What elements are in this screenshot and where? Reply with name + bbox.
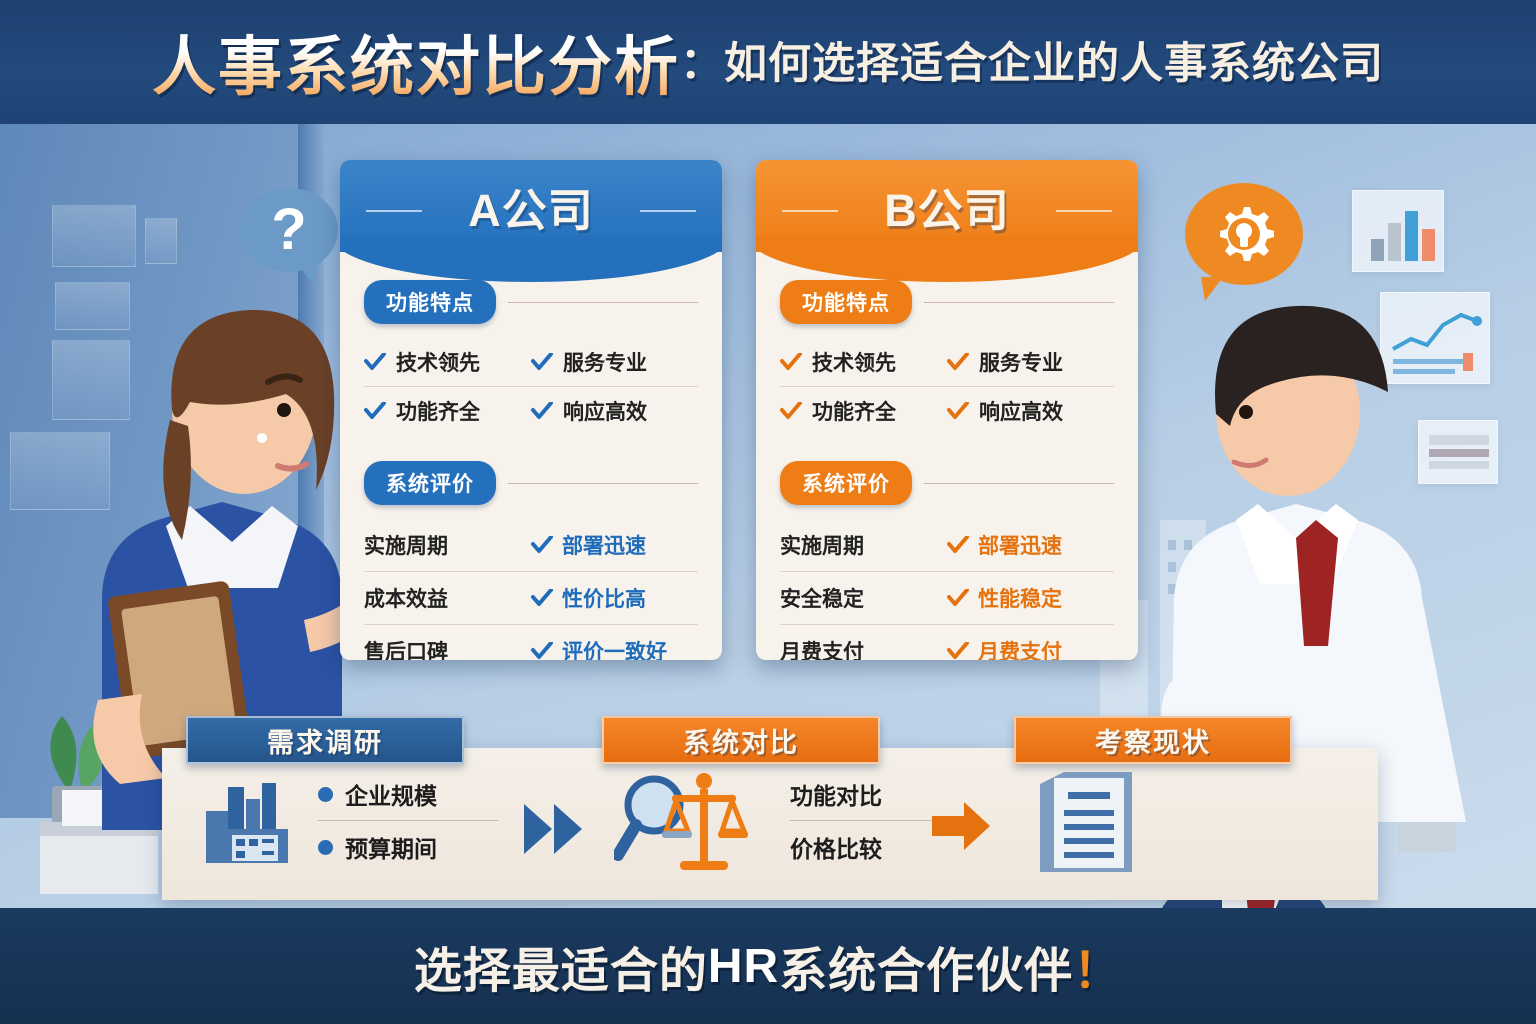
- gear-bubble: [1185, 183, 1303, 285]
- card-a-spec-value-3-label: 评价一致好: [562, 636, 667, 660]
- card-a-title: A公司: [340, 160, 722, 252]
- card-b-section1-rule: [924, 302, 1114, 303]
- gear-search-icon: [1211, 201, 1277, 267]
- card-b-section2-rule: [924, 483, 1114, 484]
- flow-badge-inspect[interactable]: 考察现状: [1014, 716, 1292, 764]
- card-a-spec-value-2-label: 性价比高: [562, 583, 646, 613]
- card-b-spec-value-1: 部署迅速: [947, 530, 1114, 560]
- card-a-section2-chip: 系统评价: [364, 461, 496, 505]
- card-b-spec-key-3: 月费支付: [780, 636, 947, 660]
- card-a-spec-value-1-label: 部署迅速: [562, 530, 646, 560]
- footer-tagline: 选择最适合的HR系统合作伙伴！: [0, 908, 1536, 1024]
- card-a-feature-2-label: 服务专业: [563, 347, 647, 377]
- card-a-feature-2: 服务专业: [531, 338, 698, 386]
- page-title-row: 人事系统对比分析 ：如何选择适合企业的人事系统公司: [0, 0, 1536, 124]
- check-icon: [531, 642, 553, 660]
- card-b-spec-value-3-label: 月费支付: [978, 636, 1062, 660]
- comparison-card-b[interactable]: B公司 功能特点 技术领先 服务专业 功能齐全: [756, 160, 1138, 660]
- card-b-spec-row-1: 实施周期 部署迅速: [780, 519, 1114, 571]
- card-a-section1-chiprow: 功能特点: [364, 280, 698, 324]
- card-a-section2-chiprow: 系统评价: [364, 461, 698, 505]
- card-b-spec-value-3: 月费支付: [947, 636, 1114, 660]
- bullet-dot-icon: [318, 787, 333, 802]
- card-a-section1-chip: 功能特点: [364, 280, 496, 324]
- card-a-feature-1: 技术领先: [364, 338, 531, 386]
- card-a-section1-rule: [508, 302, 698, 303]
- card-a-spec-row-2: 成本效益 性价比高: [364, 571, 698, 624]
- card-b-spec-key-2: 安全稳定: [780, 583, 947, 613]
- card-a-feature-grid: 技术领先 服务专业 功能齐全 响应高效: [364, 338, 698, 435]
- check-icon: [947, 536, 969, 554]
- card-b-feature-4: 响应高效: [947, 387, 1114, 435]
- check-icon: [947, 589, 969, 607]
- footer-tagline-post: 系统合作伙伴: [779, 931, 1073, 1001]
- question-bubble: ?: [240, 188, 338, 272]
- document-icon: [1026, 768, 1146, 876]
- flow-badge-compare[interactable]: 系统对比: [602, 716, 880, 764]
- card-a-spec-row-3: 售后口碑 评价一致好: [364, 624, 698, 660]
- card-b-spec-key-1: 实施周期: [780, 530, 947, 560]
- question-mark-icon: ?: [271, 201, 306, 259]
- flow-step-2-line-2-label: 价格比较: [790, 830, 882, 864]
- card-a-body: 功能特点 技术领先 服务专业 功能齐全: [340, 252, 722, 660]
- factory-icon: [198, 773, 302, 869]
- card-b-feature-3: 功能齐全: [780, 387, 947, 435]
- card-b-feature-grid: 技术领先 服务专业 功能齐全 响应高效: [780, 338, 1114, 435]
- card-b-feature-4-label: 响应高效: [979, 396, 1063, 426]
- check-icon: [531, 589, 553, 607]
- arrow-right-icon: [930, 800, 992, 852]
- card-b-header: B公司: [756, 160, 1138, 252]
- check-icon: [947, 642, 969, 660]
- card-b-feature-3-label: 功能齐全: [812, 396, 896, 426]
- card-b-spec-row-2: 安全稳定 性能稳定: [780, 571, 1114, 624]
- card-b-section2-chiprow: 系统评价: [780, 461, 1114, 505]
- card-a-header: A公司: [340, 160, 722, 252]
- card-a-feature-3-label: 功能齐全: [396, 396, 480, 426]
- bullet-dot-icon: [318, 840, 333, 855]
- card-b-spec-value-2: 性能稳定: [947, 583, 1114, 613]
- card-b-body: 功能特点 技术领先 服务专业 功能齐全: [756, 252, 1138, 660]
- card-b-spec-value-1-label: 部署迅速: [978, 530, 1062, 560]
- card-a-feature-3: 功能齐全: [364, 387, 531, 435]
- check-icon: [531, 402, 553, 420]
- footer-tagline-hr: HR: [708, 939, 779, 994]
- check-icon: [947, 353, 969, 371]
- check-icon: [780, 353, 802, 371]
- card-a-spec-list: 实施周期 部署迅速 成本效益 性价比高 售后口碑: [364, 519, 698, 660]
- flow-step-2-line-1-label: 功能对比: [790, 777, 882, 811]
- card-a-feature-4-label: 响应高效: [563, 396, 647, 426]
- magnifier-scales-icon: [614, 769, 774, 873]
- card-a-feature-4: 响应高效: [531, 387, 698, 435]
- flow-step-1-line-1-label: 企业规模: [345, 777, 437, 811]
- double-chevron-right-icon: [520, 800, 592, 858]
- comparison-card-a[interactable]: A公司 功能特点 技术领先 服务专业 功能齐全: [340, 160, 722, 660]
- card-b-section1-chip: 功能特点: [780, 280, 912, 324]
- flow-step-1-lines: 企业规模 预算期间: [318, 768, 498, 873]
- flow-step-3: [1026, 768, 1146, 876]
- flow-step-2: 功能对比 价格比较: [614, 768, 970, 873]
- check-icon: [364, 353, 386, 371]
- card-b-section2-chip: 系统评价: [780, 461, 912, 505]
- card-a-feature-1-label: 技术领先: [396, 347, 480, 377]
- page-subtitle: ：如何选择适合企业的人事系统公司: [680, 29, 1384, 95]
- card-a-section2-rule: [508, 483, 698, 484]
- check-icon: [947, 402, 969, 420]
- card-a-spec-value-2: 性价比高: [531, 583, 698, 613]
- card-b-section1-chiprow: 功能特点: [780, 280, 1114, 324]
- flow-step-1-line-2-label: 预算期间: [345, 830, 437, 864]
- card-a-spec-key-2: 成本效益: [364, 583, 531, 613]
- infographic-canvas: ? 人事系统对比分析 ：如何选择适合企业的人事系统公司 A公司 功能特点: [0, 0, 1536, 1024]
- flow-badge-research[interactable]: 需求调研: [186, 716, 464, 764]
- check-icon: [531, 536, 553, 554]
- card-a-spec-value-3: 评价一致好: [531, 636, 698, 660]
- card-b-spec-value-2-label: 性能稳定: [978, 583, 1062, 613]
- card-b-spec-list: 实施周期 部署迅速 安全稳定 性能稳定 月费支付: [780, 519, 1114, 660]
- check-icon: [780, 402, 802, 420]
- check-icon: [364, 402, 386, 420]
- card-a-spec-row-1: 实施周期 部署迅速: [364, 519, 698, 571]
- flow-step-1: 企业规模 预算期间: [198, 768, 498, 873]
- card-a-spec-value-1: 部署迅速: [531, 530, 698, 560]
- flow-step-1-line-2: 预算期间: [318, 820, 498, 873]
- card-b-title: B公司: [756, 160, 1138, 252]
- card-b-feature-1: 技术领先: [780, 338, 947, 386]
- flow-step-1-line-1: 企业规模: [318, 768, 498, 820]
- card-a-spec-key-3: 售后口碑: [364, 636, 531, 660]
- footer-tagline-pre: 选择最适合的: [414, 931, 708, 1001]
- check-icon: [531, 353, 553, 371]
- card-b-feature-1-label: 技术领先: [812, 347, 896, 377]
- card-a-spec-key-1: 实施周期: [364, 530, 531, 560]
- page-title: 人事系统对比分析: [152, 16, 680, 108]
- card-b-spec-row-3: 月费支付 月费支付: [780, 624, 1114, 660]
- card-b-feature-2-label: 服务专业: [979, 347, 1063, 377]
- footer-tagline-exclamation: ！: [1073, 931, 1122, 1001]
- card-b-feature-2: 服务专业: [947, 338, 1114, 386]
